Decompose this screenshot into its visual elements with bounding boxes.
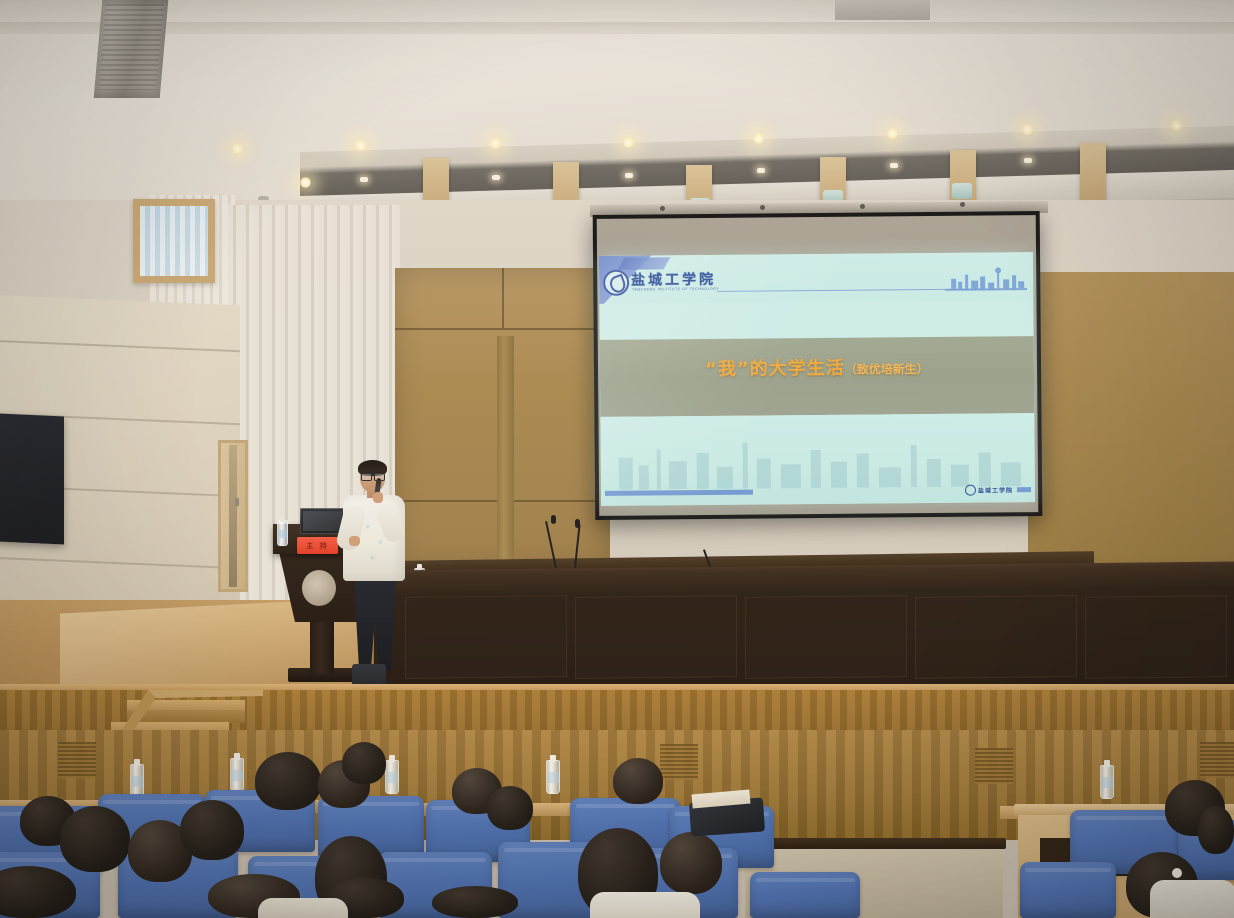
hvac-duct bbox=[94, 0, 169, 98]
wall-vent-grille bbox=[660, 744, 698, 780]
window-glass bbox=[140, 206, 208, 276]
rail-screw bbox=[660, 206, 665, 211]
podium-stem bbox=[310, 616, 334, 674]
presenter-right-hand bbox=[373, 492, 383, 503]
audience-head bbox=[487, 786, 533, 830]
slide-footer-bar-right bbox=[1017, 487, 1031, 492]
audience-shoulders bbox=[590, 892, 700, 918]
audience-head bbox=[613, 758, 663, 804]
wall-window bbox=[133, 199, 215, 283]
skyline-graphic-icon bbox=[945, 264, 1027, 291]
slide-footer-logo: 盐城工学院 bbox=[965, 484, 1013, 495]
ceiling-downlight bbox=[1021, 123, 1034, 136]
ceiling-spotlight bbox=[360, 177, 368, 182]
door-handle-icon[interactable] bbox=[235, 498, 239, 506]
audience-head bbox=[1198, 806, 1234, 854]
slide-title-main: “我”的大学生活 bbox=[705, 358, 845, 380]
footer-logo-text: 盐城工学院 bbox=[978, 485, 1013, 494]
ceiling-vent bbox=[835, 0, 930, 20]
ceiling-spotlight bbox=[757, 168, 765, 173]
wall-vent-grille bbox=[1200, 742, 1234, 778]
audience-shoulders bbox=[1150, 880, 1234, 918]
audience-shoulders bbox=[258, 898, 348, 918]
footer-logo-icon bbox=[965, 485, 976, 496]
table-front-panel bbox=[1085, 595, 1227, 678]
water-bottle bbox=[130, 764, 144, 798]
rail-screw bbox=[860, 204, 865, 209]
slide-title-sub: （致优培新生） bbox=[845, 362, 929, 377]
audience-head bbox=[255, 752, 321, 810]
water-bottle bbox=[1100, 765, 1114, 799]
ceiling-downlight bbox=[354, 139, 367, 152]
water-bottle bbox=[385, 760, 399, 794]
audience-head bbox=[60, 806, 130, 872]
audience-head bbox=[180, 800, 244, 860]
wall-vent-grille bbox=[58, 742, 96, 778]
water-bottle bbox=[230, 758, 244, 792]
slide-city-watermark-icon bbox=[600, 428, 1034, 490]
lecture-hall-photo: 盐城工学院 YANCHENG INSTITUTE OF TECHNOLOGY “… bbox=[0, 0, 1234, 918]
table-front-panel bbox=[915, 595, 1077, 679]
podium-emblem-icon bbox=[302, 570, 336, 606]
stage-wall-column bbox=[497, 336, 514, 568]
water-bottle bbox=[546, 760, 560, 794]
auditorium-seat[interactable] bbox=[1020, 862, 1116, 918]
slide-footer-bar-left bbox=[605, 490, 753, 496]
table-front-panel bbox=[745, 595, 907, 679]
header-accent-stripe bbox=[618, 257, 671, 269]
wall-vent-grille bbox=[975, 748, 1013, 784]
microphone-head-icon bbox=[575, 519, 580, 528]
ceiling-downlight bbox=[886, 127, 899, 140]
slide-header: 盐城工学院 YANCHENG INSTITUTE OF TECHNOLOGY bbox=[599, 252, 1033, 304]
podium-water-bottle bbox=[277, 520, 288, 546]
ceiling-downlight bbox=[752, 132, 765, 145]
rail-screw bbox=[960, 202, 965, 207]
desk-small-item bbox=[1172, 868, 1182, 878]
stage-wood-wall-right bbox=[1028, 272, 1234, 572]
audience-desk-front-top bbox=[742, 838, 1006, 849]
audience-head bbox=[660, 832, 722, 894]
audience-head bbox=[342, 742, 386, 784]
slide-lower-section: 王 伟 盐城工学院 wangw@ycit.edu.cn 2023年10月11日 … bbox=[600, 413, 1035, 506]
ceiling-downlight bbox=[622, 136, 635, 149]
ceiling-beam-top bbox=[0, 22, 1234, 34]
ceiling-downlight bbox=[1170, 119, 1183, 132]
ceiling-downlight bbox=[489, 137, 502, 150]
door-opening bbox=[229, 445, 237, 587]
ceiling-downlight bbox=[231, 142, 244, 155]
rail-screw bbox=[760, 205, 765, 210]
microphone-head-icon bbox=[551, 515, 556, 524]
ceiling-spotlight bbox=[1024, 158, 1032, 163]
audience-head bbox=[432, 886, 518, 918]
presenter-left-hand bbox=[349, 536, 360, 546]
beam-speaker bbox=[952, 183, 972, 199]
ceiling-downlight bbox=[299, 176, 312, 189]
ceiling-spotlight bbox=[492, 175, 500, 180]
table-front-panel bbox=[575, 595, 737, 679]
ceiling-spotlight bbox=[625, 173, 633, 178]
auditorium-seat[interactable] bbox=[750, 872, 860, 918]
slide-title: “我”的大学生活（致优培新生） bbox=[600, 352, 1034, 382]
table-front-panel bbox=[405, 595, 567, 679]
university-logo-icon bbox=[603, 270, 629, 296]
wall-display-panel bbox=[0, 413, 64, 544]
projected-slide: 盐城工学院 YANCHENG INSTITUTE OF TECHNOLOGY “… bbox=[599, 252, 1035, 506]
nameplate-text: 主 持 bbox=[306, 541, 328, 551]
ceiling-spotlight bbox=[890, 163, 898, 168]
university-name-en: YANCHENG INSTITUTE OF TECHNOLOGY bbox=[632, 287, 719, 292]
podium-nameplate: 主 持 bbox=[297, 537, 338, 554]
